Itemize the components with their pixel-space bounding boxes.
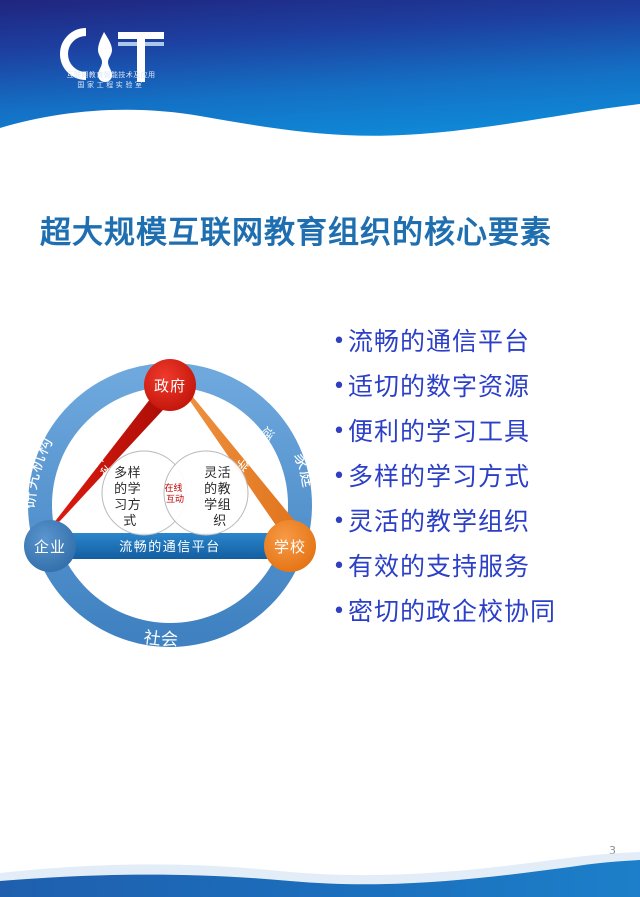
core-elements-diagram: 研究机构 家庭 社会 便利的学习工具 适切的学习资源 流畅的通信平台 (10, 345, 330, 665)
node-school: 学校 (264, 520, 316, 572)
bullet-dot-icon: • (330, 370, 348, 404)
list-item-label: 适切的数字资源 (348, 370, 530, 404)
bullet-dot-icon: • (330, 550, 348, 584)
bullet-dot-icon: • (330, 595, 348, 629)
list-item-label: 灵活的教学组织 (348, 505, 530, 539)
list-item: • 流畅的通信平台 (330, 325, 630, 361)
node-government: 政府 (144, 359, 196, 411)
slide-footer (0, 837, 640, 897)
list-item: • 有效的支持服务 (330, 550, 630, 586)
edge-communication-platform: 流畅的通信平台 (50, 533, 290, 559)
venn-label-online-interaction: 在线 互动 (165, 482, 186, 505)
list-item-label: 便利的学习工具 (348, 415, 530, 449)
list-item: • 灵活的教学组织 (330, 505, 630, 541)
bullet-dot-icon: • (330, 415, 348, 449)
logo-subtitle-line1: 互联网教育智能技术及应用 (52, 70, 170, 80)
slide-root: 互联网教育智能技术及应用 国家工程实验室 超大规模互联网教育组织的核心要素 (0, 0, 640, 897)
node-enterprise: 企业 (24, 520, 76, 572)
bullet-dot-icon: • (330, 460, 348, 494)
list-item: • 多样的学习方式 (330, 460, 630, 496)
footer-wave (0, 837, 640, 897)
list-item-label: 有效的支持服务 (348, 550, 530, 584)
bullet-dot-icon: • (330, 505, 348, 539)
node-government-label: 政府 (154, 377, 186, 395)
ring-label-society: 社会 (142, 628, 179, 650)
venn-group: 多样 的学 习方 式 灵活 的教 学组 织 在线 互动 (102, 451, 248, 535)
list-item: • 便利的学习工具 (330, 415, 630, 451)
core-elements-list: • 流畅的通信平台 • 适切的数字资源 • 便利的学习工具 • 多样的学习方式 … (330, 325, 630, 640)
node-enterprise-label: 企业 (34, 538, 66, 556)
bullet-dot-icon: • (330, 325, 348, 359)
logo-subtitle-line2: 国家工程实验室 (52, 80, 170, 90)
edge-communication-platform-label: 流畅的通信平台 (119, 539, 221, 555)
list-item: • 适切的数字资源 (330, 370, 630, 406)
list-item-label: 流畅的通信平台 (348, 325, 530, 359)
list-item-label: 密切的政企校协同 (348, 595, 556, 629)
node-school-label: 学校 (274, 538, 306, 556)
page-title: 超大规模互联网教育组织的核心要素 (40, 207, 600, 252)
diagram-svg: 研究机构 家庭 社会 便利的学习工具 适切的学习资源 流畅的通信平台 (10, 345, 330, 665)
list-item-label: 多样的学习方式 (348, 460, 530, 494)
slide-header: 互联网教育智能技术及应用 国家工程实验室 (0, 0, 640, 160)
list-item: • 密切的政企校协同 (330, 595, 630, 631)
